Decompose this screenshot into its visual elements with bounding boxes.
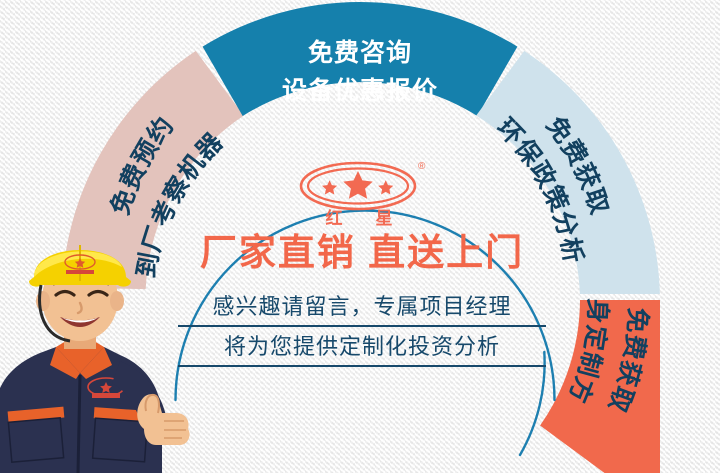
worker-pocket-left — [8, 418, 63, 462]
promo-banner: 免费预约 到厂考察机器 免费咨询 设备优惠报价 免费获取 环保政策分析 — [0, 0, 720, 473]
logo-char-hong: 红 — [326, 208, 343, 228]
logo-char-xing: 星 — [376, 209, 393, 228]
sub-line-1: 感兴趣请留言，专属项目经理 — [178, 287, 546, 327]
worker-helmet-logo-text — [66, 270, 94, 274]
brand-logo: ® 红 星 — [178, 158, 546, 230]
headline: 厂家直销 直送上门 — [178, 234, 546, 273]
worker-ear-right — [110, 291, 124, 311]
registered-mark: ® — [418, 161, 426, 172]
worker-zipper — [78, 375, 80, 473]
wheel-segment-free-consultation[interactable]: 免费咨询 设备优惠报价 — [203, 2, 518, 116]
wheel-segment-teal-line2: 设备优惠报价 — [282, 77, 438, 105]
sub-line-2: 将为您提供定制化投资分析 — [178, 327, 546, 367]
worker-illustration — [0, 215, 209, 473]
worker-badge-text — [92, 393, 120, 398]
hongxing-logo-icon: ® 红 星 — [282, 158, 442, 230]
worker-pocket-right — [93, 418, 148, 462]
worker-photo — [0, 215, 209, 473]
center-content: ® 红 星 厂家直销 直送上门 感兴趣请留言，专属项目经理 将为您提供定制化投资… — [178, 158, 546, 408]
wheel-segment-teal-line1: 免费咨询 — [308, 38, 412, 67]
